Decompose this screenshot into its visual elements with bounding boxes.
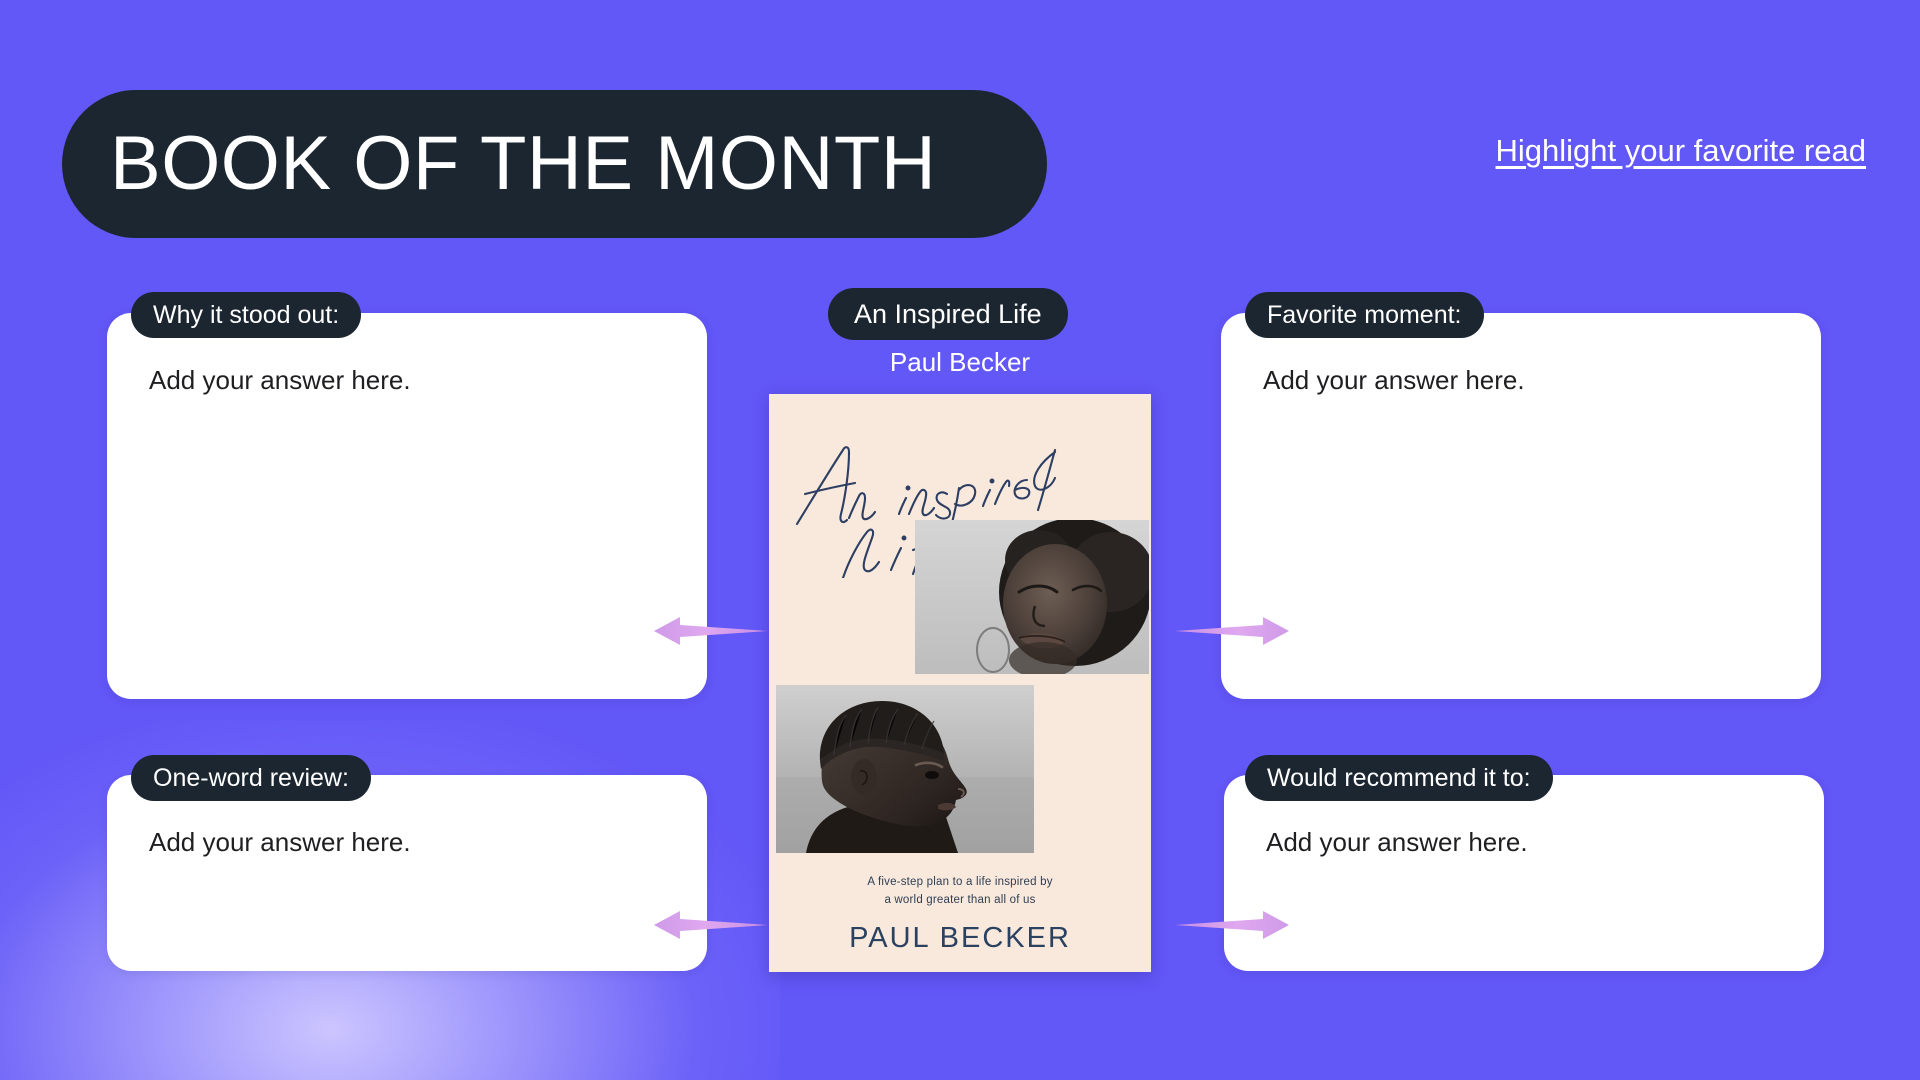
page-title-pill: BOOK OF THE MONTH	[62, 90, 1047, 238]
book-title-pill: An Inspired Life	[828, 288, 1068, 340]
label-favorite-moment: Favorite moment:	[1245, 292, 1484, 338]
highlight-favorite-read-link[interactable]: Highlight your favorite read	[1496, 133, 1866, 169]
arrow-right-icon	[1175, 908, 1293, 942]
page-title: BOOK OF THE MONTH	[62, 126, 936, 202]
photo-woman-portrait	[915, 520, 1149, 674]
answer-text-one-word-review[interactable]: Add your answer here.	[149, 827, 411, 858]
card-one-word-review[interactable]: Add your answer here.	[107, 775, 707, 971]
label-one-word-review: One-word review:	[131, 755, 371, 801]
book-cover[interactable]: A five-step plan to a life inspired by a…	[769, 394, 1151, 972]
book-title: An Inspired Life	[854, 299, 1042, 330]
cover-author-byline: PAUL BECKER	[769, 922, 1151, 955]
arrow-right-icon	[1175, 614, 1293, 648]
cover-subtitle-line-2: a world greater than all of us	[769, 892, 1151, 910]
answer-text-would-recommend[interactable]: Add your answer here.	[1266, 827, 1528, 858]
arrow-left-icon	[650, 614, 768, 648]
slide-canvas: BOOK OF THE MONTH Highlight your favorit…	[0, 0, 1920, 1080]
photo-man-profile	[776, 685, 1034, 853]
book-author-wrap: Paul Becker	[0, 347, 1920, 378]
label-would-recommend-it-to: Would recommend it to:	[1245, 755, 1553, 801]
cover-subtitle: A five-step plan to a life inspired by a…	[769, 874, 1151, 910]
book-author: Paul Becker	[890, 347, 1030, 378]
card-would-recommend-it-to[interactable]: Add your answer here.	[1224, 775, 1824, 971]
arrow-left-icon	[650, 908, 768, 942]
cover-subtitle-line-1: A five-step plan to a life inspired by	[769, 874, 1151, 892]
label-why-it-stood-out: Why it stood out:	[131, 292, 361, 338]
